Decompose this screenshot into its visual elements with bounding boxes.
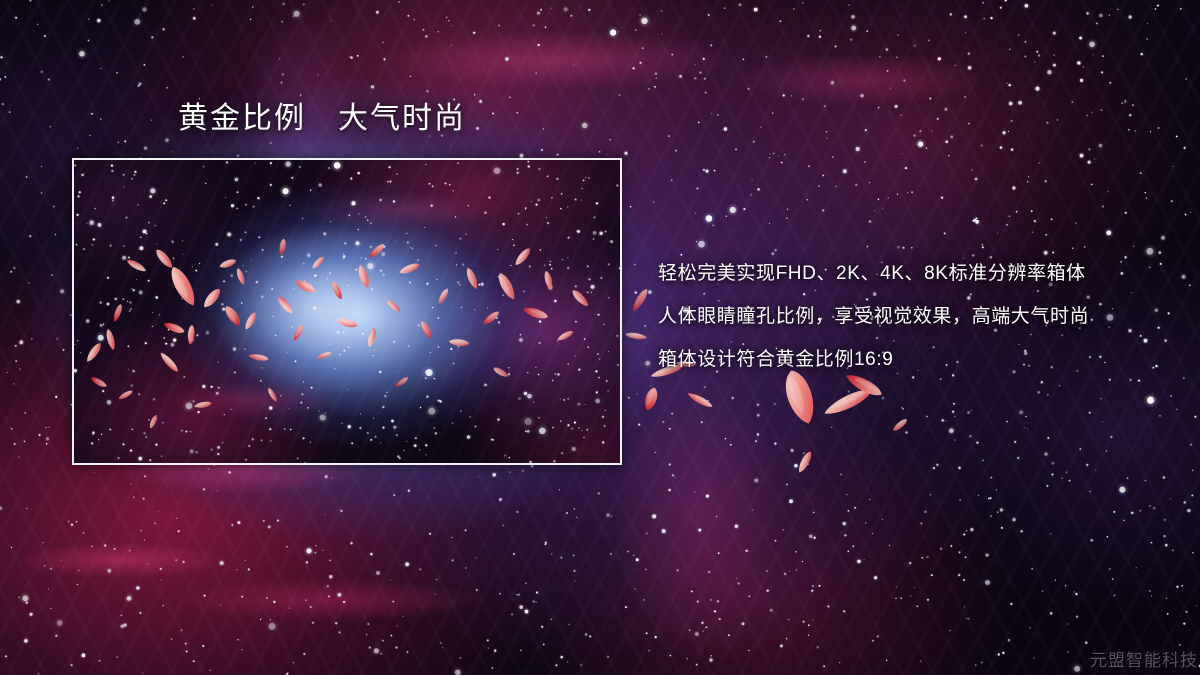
slide-body-text: 轻松完美实现FHD、2K、4K、8K标准分辨率箱体 人体眼睛瞳孔比例，享受视觉效… <box>658 252 1168 381</box>
body-line-1: 轻松完美实现FHD、2K、4K、8K标准分辨率箱体 <box>658 252 1168 295</box>
image-frame <box>72 158 622 465</box>
framed-nebula-image <box>74 160 620 463</box>
framed-starfield <box>74 160 620 463</box>
body-line-3: 箱体设计符合黄金比例16:9 <box>658 338 1168 381</box>
watermark-text: 元盟智能科技 <box>1090 646 1198 671</box>
slide-title: 黄金比例 大气时尚 <box>178 101 466 137</box>
presentation-slide: 黄金比例 大气时尚 轻松完美实现FHD、2K、4K、8K标准分辨率箱体 人体眼睛… <box>0 0 1200 675</box>
body-line-2: 人体眼睛瞳孔比例，享受视觉效果，高端大气时尚 <box>658 295 1168 338</box>
